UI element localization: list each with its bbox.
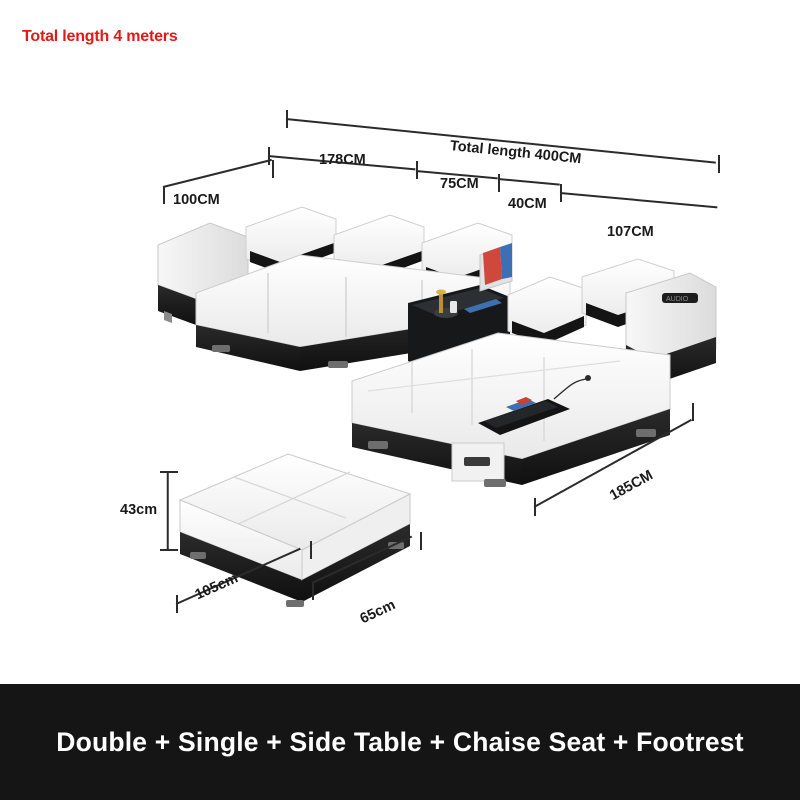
dimlabel-43: 43cm (120, 502, 157, 518)
page-title: Total length 4 meters (22, 28, 178, 46)
dimlabel-178: 178CM (319, 152, 366, 168)
dimtick-100-right (272, 160, 274, 178)
dimtick-total-left (286, 110, 288, 128)
dimlabel-75: 75CM (440, 176, 479, 192)
dimtick-65-left (312, 582, 314, 600)
product-dimension-diagram: Total length 4 meters (0, 0, 800, 800)
dimtick-178-left (268, 147, 270, 165)
dimtick-65-right (420, 532, 422, 550)
dimtick-total-right (718, 155, 720, 173)
dimtick-185-left (534, 498, 536, 516)
dimtick-105-right (310, 541, 312, 559)
dimtick-185-right (692, 403, 694, 421)
dimlabel-107: 107CM (607, 224, 654, 240)
dimtick-105-left (176, 595, 178, 613)
dimline-100 (163, 159, 272, 188)
product-variant-label: Double + Single + Side Table + Chaise Se… (56, 727, 744, 758)
dimtick-43-bottom (160, 549, 178, 551)
dimline-43 (167, 473, 169, 551)
dimlabel-40: 40CM (508, 196, 547, 212)
svg-text:AUDIO: AUDIO (666, 296, 689, 303)
dimlabel-100: 100CM (173, 192, 220, 208)
dimtick-43-top (160, 471, 178, 473)
dimtick-100-left (163, 186, 165, 204)
product-variant-banner: Double + Single + Side Table + Chaise Se… (0, 684, 800, 800)
dimtick-75-right (498, 174, 500, 192)
